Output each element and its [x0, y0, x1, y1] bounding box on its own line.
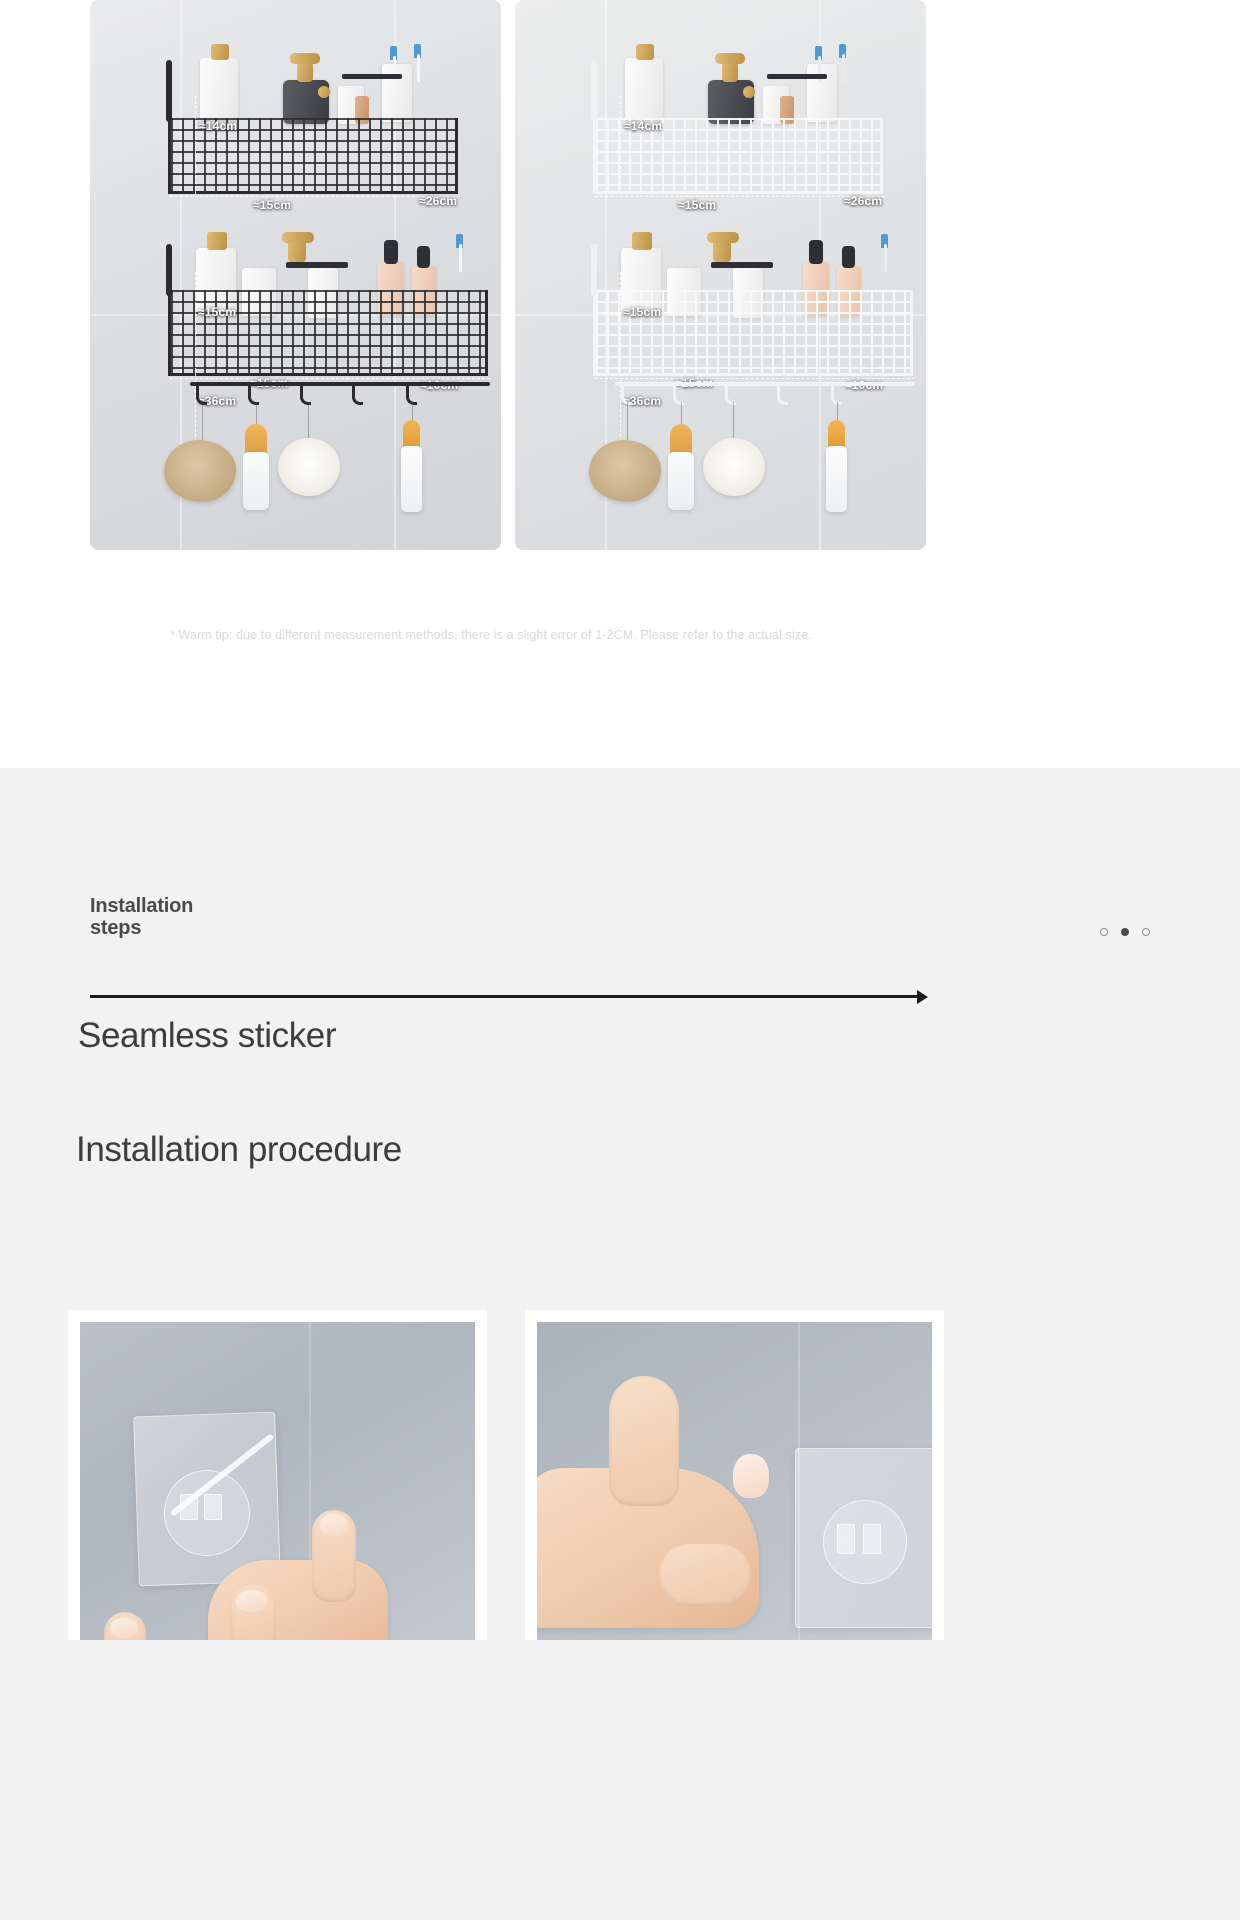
seamless-sticker-title: Seamless sticker — [78, 1016, 336, 1056]
install-photo-press-sticker[interactable] — [525, 1310, 944, 1640]
hook — [248, 385, 259, 405]
fingernail — [733, 1454, 769, 1498]
sticker-clip — [204, 1494, 222, 1520]
dimension-guide — [195, 272, 196, 376]
product-photo-row: ≈14cm ≈15cm ≈26cm — [90, 0, 926, 550]
toothbrush-cup — [382, 64, 412, 122]
shampoo-bottle — [200, 58, 238, 120]
dim-upper-height: ≈14cm — [624, 119, 662, 133]
installation-photo-row — [68, 1310, 944, 1640]
shelf-rail — [767, 74, 827, 79]
hook-bar-white — [615, 382, 915, 386]
installation-procedure-title: Installation procedure — [76, 1130, 402, 1170]
hook — [300, 385, 311, 405]
pagination-dot-3[interactable] — [1142, 928, 1150, 936]
dispenser-nozzle — [290, 53, 320, 64]
sticker-clip — [837, 1524, 855, 1554]
hook — [725, 385, 736, 405]
hanging-string — [627, 402, 628, 442]
install-photo-1-inner — [80, 1322, 475, 1640]
dim-upper-height: ≈14cm — [199, 119, 237, 133]
wall-mount-bracket — [591, 244, 597, 296]
lower-basket-black — [168, 290, 488, 376]
dim-upper-depth: ≈15cm — [678, 198, 716, 212]
middle-finger — [659, 1544, 751, 1606]
pump-head — [809, 240, 823, 264]
hanging-string — [202, 402, 203, 442]
installation-section: Installation steps Seamless sticker Inst… — [0, 768, 1240, 1920]
dispenser-pump — [297, 62, 313, 82]
toothbrush-handle — [884, 244, 887, 272]
product-photo-white-shelf[interactable]: ≈14cm ≈15cm ≈26cm — [515, 0, 926, 550]
toothbrush-handle — [459, 244, 462, 272]
hanging-string — [733, 402, 734, 440]
foot-file-body — [401, 446, 422, 512]
fingernail — [110, 1618, 138, 1638]
hanging-string — [308, 402, 309, 440]
hook — [777, 385, 788, 405]
bottle-cap — [207, 232, 227, 250]
hook — [673, 385, 684, 405]
fingernail — [320, 1514, 348, 1536]
toothbrush-handle — [417, 54, 420, 82]
foot-file-body — [826, 446, 847, 512]
gold-cap — [743, 86, 755, 98]
bottle-cap — [632, 232, 652, 250]
dispenser-pump — [722, 62, 738, 82]
shampoo-bottle — [625, 58, 663, 120]
gold-cap — [318, 86, 330, 98]
bath-puff — [703, 438, 765, 496]
dimension-guide — [170, 196, 460, 197]
specifications-section: ≈14cm ≈15cm ≈26cm — [0, 0, 1240, 768]
shelf-rail — [342, 74, 402, 79]
wall-mount-bracket — [166, 244, 172, 296]
fingernail — [236, 1590, 268, 1612]
loofah-sponge — [589, 440, 661, 502]
section-divider-arrow — [90, 990, 928, 1004]
bottle-cap — [636, 44, 654, 60]
hook — [352, 385, 363, 405]
warm-tip-text: * Warm tip: due to different measurement… — [170, 626, 840, 644]
index-finger — [609, 1376, 679, 1506]
divider-bar — [90, 995, 920, 998]
wall-mount-bracket — [591, 60, 597, 122]
dim-upper-width: ≈26cm — [844, 194, 882, 208]
arrow-head-icon — [917, 990, 928, 1004]
dimension-guide — [620, 96, 621, 194]
wall-mount-bracket — [166, 60, 172, 122]
bottle-cap — [211, 44, 229, 60]
install-photo-peel-sticker[interactable] — [68, 1310, 487, 1640]
product-detail-page: ≈14cm ≈15cm ≈26cm — [0, 0, 1240, 1920]
pagination-dot-2[interactable] — [1121, 928, 1129, 936]
bath-brush-body — [668, 452, 694, 510]
dim-lower-height: ≈15cm — [623, 305, 661, 319]
installation-steps-line1: Installation — [90, 896, 193, 918]
dispenser-pump — [288, 240, 306, 262]
toothbrush-cup — [807, 64, 837, 122]
pagination-dot-1[interactable] — [1100, 928, 1108, 936]
installation-steps-line2: steps — [90, 918, 193, 940]
dispenser-pump — [713, 240, 731, 262]
dim-upper-width: ≈26cm — [419, 194, 457, 208]
loofah-sponge — [164, 440, 236, 502]
product-photo-black-shelf[interactable]: ≈14cm ≈15cm ≈26cm — [90, 0, 501, 550]
install-photo-2-inner — [537, 1322, 932, 1640]
dimension-guide — [195, 96, 196, 194]
dimension-guide — [620, 272, 621, 376]
dim-upper-depth: ≈15cm — [253, 198, 291, 212]
bath-brush-body — [243, 452, 269, 510]
bath-puff — [278, 438, 340, 496]
dispenser-nozzle — [282, 232, 314, 243]
hook-bar-black — [190, 382, 490, 386]
pagination-dots[interactable] — [1100, 928, 1150, 936]
toothbrush-handle — [842, 54, 845, 82]
pump-head — [842, 246, 855, 268]
dispenser-nozzle — [707, 232, 739, 243]
dispenser-nozzle — [715, 53, 745, 64]
installation-steps-label: Installation steps — [90, 896, 193, 939]
lower-basket-white — [593, 290, 913, 376]
pump-head — [417, 246, 430, 268]
dim-lower-height: ≈15cm — [198, 305, 236, 319]
sticker-clip — [863, 1524, 881, 1554]
dimension-guide — [595, 196, 885, 197]
pump-head — [384, 240, 398, 264]
